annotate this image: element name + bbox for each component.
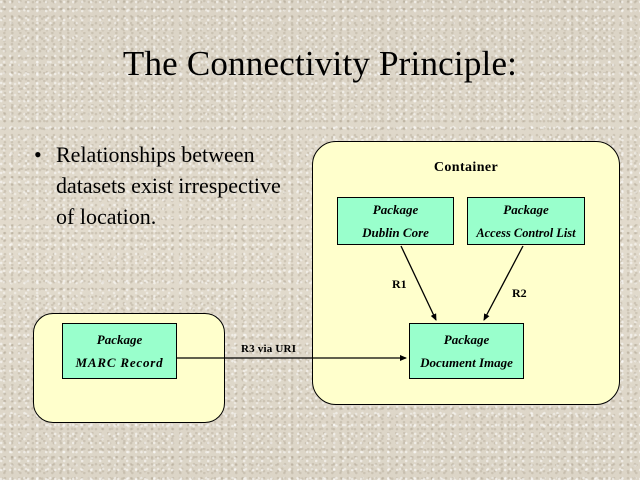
- package-name-label: Document Image: [420, 355, 513, 371]
- page-title: The Connectivity Principle:: [0, 43, 640, 85]
- package-marc-record: Package MARC Record: [62, 323, 177, 379]
- package-kind-label: Package: [373, 202, 418, 218]
- bullet-list: • Relationships between datasets exist i…: [34, 139, 304, 232]
- slide-canvas: The Connectivity Principle: • Relationsh…: [0, 0, 640, 480]
- package-dublin-core: Package Dublin Core: [337, 197, 454, 245]
- package-kind-label: Package: [97, 332, 142, 348]
- package-kind-label: Package: [503, 202, 548, 218]
- package-document-image: Package Document Image: [409, 323, 524, 379]
- list-item: • Relationships between datasets exist i…: [34, 139, 304, 232]
- package-access-control-list: Package Access Control List: [467, 197, 585, 245]
- relationship-label-r2: R2: [512, 286, 527, 301]
- container-main-label: Container: [312, 160, 620, 176]
- package-name-label: MARC Record: [76, 355, 164, 371]
- package-name-label: Access Control List: [476, 225, 575, 241]
- bullet-item-text: Relationships between datasets exist irr…: [56, 139, 304, 232]
- package-name-label: Dublin Core: [362, 225, 429, 241]
- bullet-marker-icon: •: [34, 139, 56, 170]
- package-kind-label: Package: [444, 332, 489, 348]
- relationship-label-r3: R3 via URI: [241, 343, 296, 355]
- relationship-label-r1: R1: [392, 277, 407, 292]
